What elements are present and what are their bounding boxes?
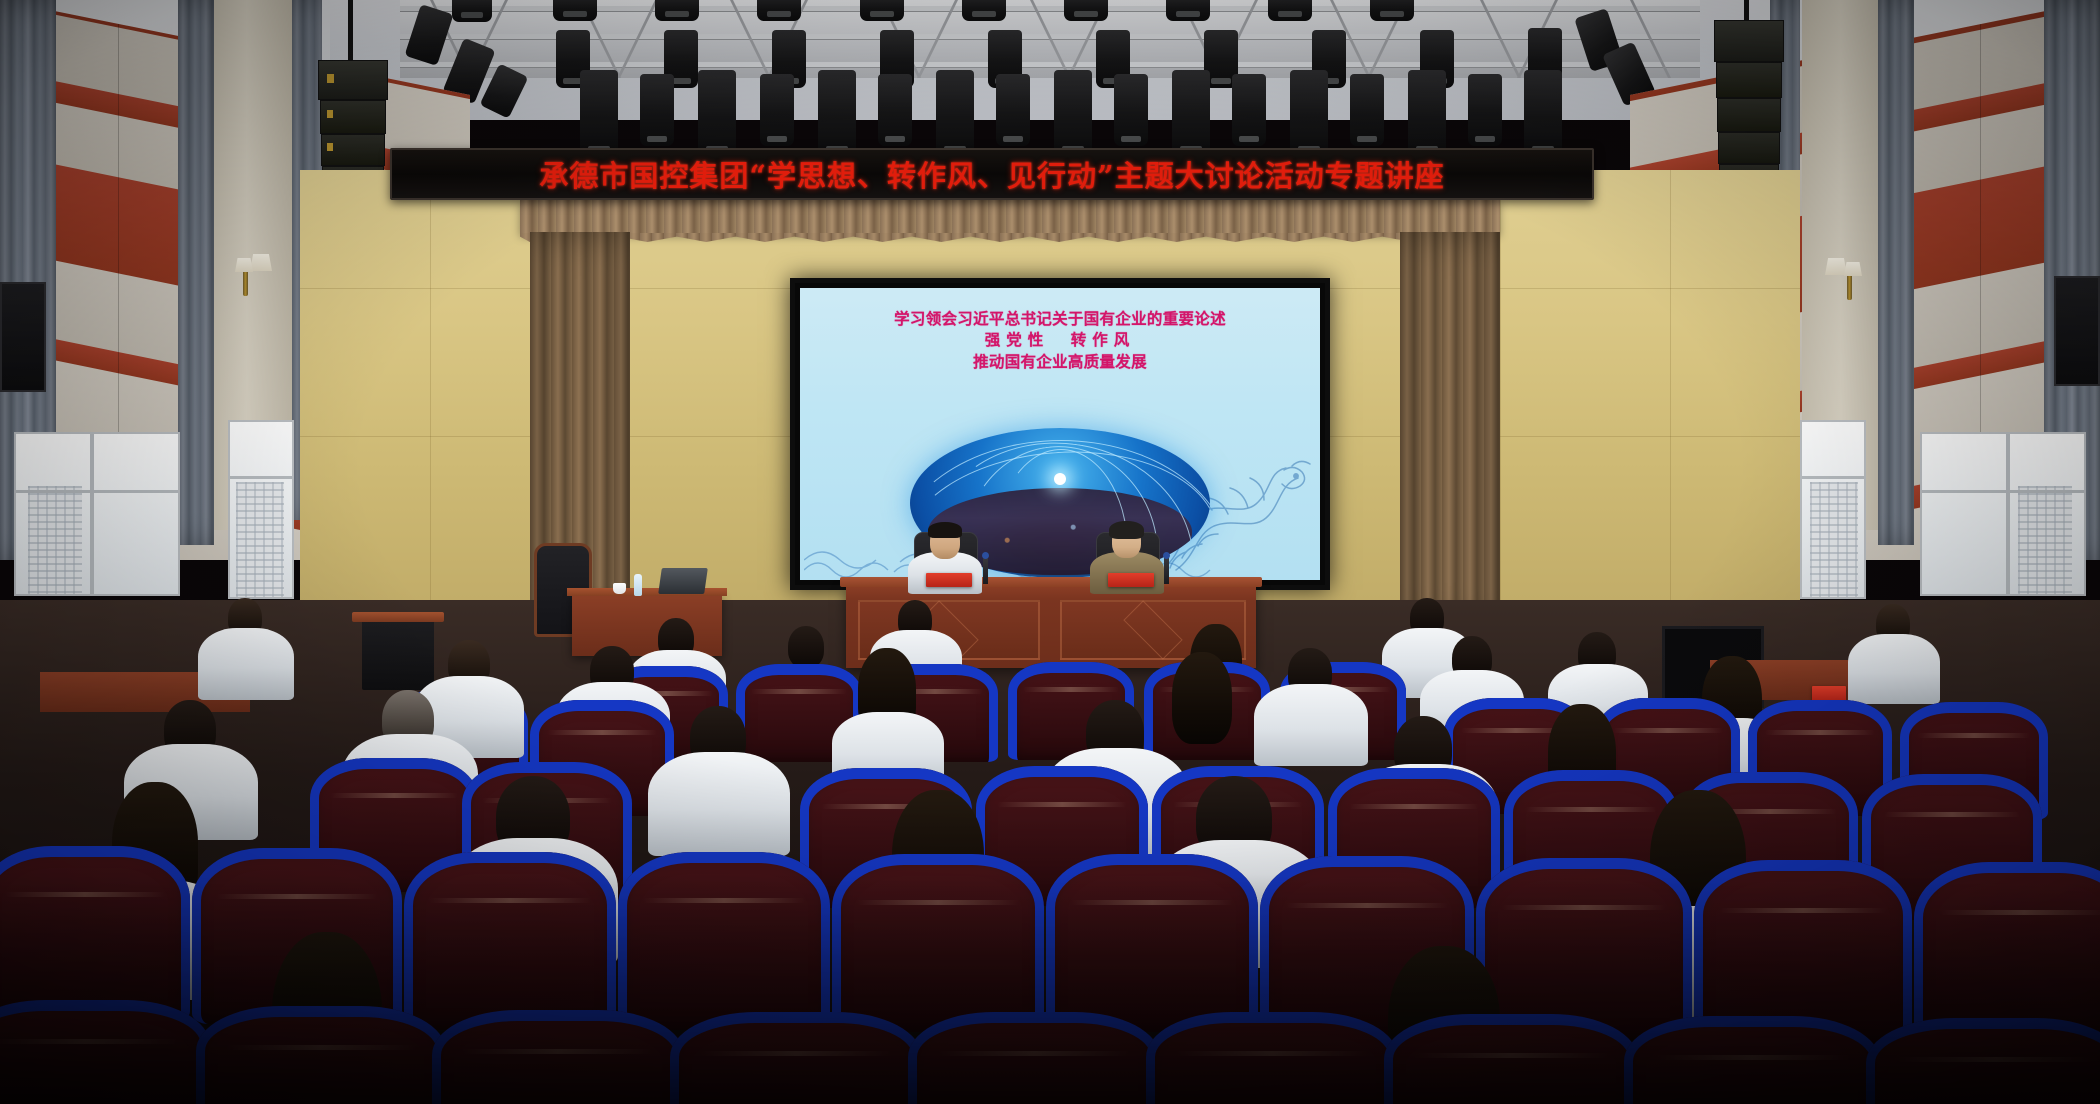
event-banner-text: 承德市国控集团“学思想、转作风、见行动”主题大讨论活动专题讲座: [539, 153, 1444, 195]
window-curtain-right-inner: [1878, 0, 1914, 545]
attendee-shirt: [1848, 634, 1940, 704]
audience-chair: [1476, 858, 1692, 1040]
stage-light-icon: [760, 74, 794, 146]
laptop: [658, 568, 708, 594]
audience-chair: [908, 1012, 1160, 1104]
attendee-shirt: [198, 628, 294, 700]
slide-line-1: 学习领会习近平总书记关于国有企业的重要论述: [800, 308, 1320, 329]
window-left-far: [14, 432, 180, 596]
nameplate-right-aisle: [1812, 686, 1846, 701]
stage-light-icon: [1350, 74, 1384, 146]
audience-chair: [404, 852, 616, 1030]
attendee-shirt: [648, 752, 790, 856]
podium-left: [362, 620, 434, 690]
wall-sconce-shade-left: [250, 254, 272, 271]
stage-valance: [520, 200, 1500, 234]
podium-top-left: [352, 612, 444, 622]
stage-light-icon: [1054, 70, 1092, 156]
stage-light-icon: [1290, 70, 1328, 156]
led-screen-frame: 学习领会习近平总书记关于国有企业的重要论述 强党性 转作风 推动国有企业高质量发…: [790, 278, 1330, 590]
speaker-right-hair: [1109, 521, 1144, 539]
stage-light-icon: [1064, 0, 1108, 21]
window-left-near: [228, 420, 294, 599]
stage-curtain-right: [1400, 232, 1500, 630]
stage-light-icon: [1114, 74, 1148, 146]
slide-text-block: 学习领会习近平总书记关于国有企业的重要论述 强党性 转作风 推动国有企业高质量发…: [800, 308, 1320, 372]
window-right-far: [1920, 432, 2086, 596]
globe-center-glow: [1054, 473, 1066, 485]
audience-chair: [670, 1012, 922, 1104]
audience-chair: [832, 854, 1044, 1032]
stage-light-icon: [878, 74, 912, 146]
operator-desk: [572, 594, 722, 656]
audience-chair: [196, 1006, 446, 1104]
event-banner: 承德市国控集团“学思想、转作风、见行动”主题大讨论活动专题讲座: [390, 148, 1594, 200]
wall-speaker-left-lower: [0, 282, 46, 392]
stage-light-icon: [452, 0, 492, 22]
wall-sconce-shade-left: [235, 258, 253, 272]
wall-speaker-right-lower: [2054, 276, 2100, 386]
stage-light-icon: [655, 0, 699, 21]
stage-light-icon: [553, 0, 597, 21]
stage-light-icon: [936, 70, 974, 156]
audience-chair: [1866, 1018, 2100, 1104]
attendee-head: [788, 626, 824, 668]
conference-hall-photo: 承德市国控集团“学思想、转作风、见行动”主题大讨论活动专题讲座 学习领会习近平总…: [0, 0, 2100, 1104]
speaker-left-hair: [928, 522, 962, 538]
coffee-cup: [613, 583, 626, 594]
stage-light-icon: [1468, 74, 1502, 146]
nameplate-speaker-left: [926, 573, 972, 587]
stage-light-icon: [962, 0, 1006, 21]
stage-light-icon: [818, 70, 856, 156]
stage-light-icon: [580, 70, 618, 156]
stage-light-icon: [757, 0, 801, 21]
audience-chair: [0, 846, 190, 1022]
audience-chair: [432, 1010, 684, 1104]
stage-light-icon: [1524, 70, 1562, 156]
stage-light-icon: [860, 0, 904, 21]
microphone-tip-right: [1163, 552, 1170, 559]
attendee-hair: [1172, 652, 1232, 744]
stage-light-icon: [640, 74, 674, 146]
stage-light-icon: [1172, 70, 1210, 156]
stage-light-icon: [698, 70, 736, 156]
stage-light-icon: [1370, 0, 1414, 21]
microphone-speaker-right: [1164, 556, 1169, 584]
stage-light-icon: [1166, 0, 1210, 21]
slide-line-2: 强党性 转作风: [800, 329, 1320, 350]
window-curtain-left-inner: [178, 0, 214, 545]
audience-chair: [1624, 1016, 1880, 1104]
nameplate-speaker-right: [1108, 573, 1154, 587]
wall-sconce-shade-right: [1825, 258, 1847, 275]
audience-chair: [1046, 854, 1258, 1032]
window-right-near: [1800, 420, 1866, 599]
stage-light-icon: [1232, 74, 1266, 146]
stage-light-icon: [1408, 70, 1446, 156]
audience-chair: [1384, 1014, 1638, 1104]
wall-sconce-shade-right: [1844, 262, 1862, 276]
stage-light-icon: [1268, 0, 1312, 21]
microphone-speaker-left: [983, 556, 988, 584]
audience-chair: [1146, 1012, 1398, 1104]
water-bottle: [634, 574, 642, 596]
microphone-tip-left: [982, 552, 989, 559]
led-screen: 学习领会习近平总书记关于国有企业的重要论述 强党性 转作风 推动国有企业高质量发…: [800, 288, 1320, 580]
slide-line-3: 推动国有企业高质量发展: [800, 351, 1320, 372]
attendee-shirt: [1254, 684, 1368, 766]
stage-light-icon: [996, 74, 1030, 146]
audience-chair: [0, 1000, 210, 1104]
audience-chair: [618, 852, 830, 1030]
